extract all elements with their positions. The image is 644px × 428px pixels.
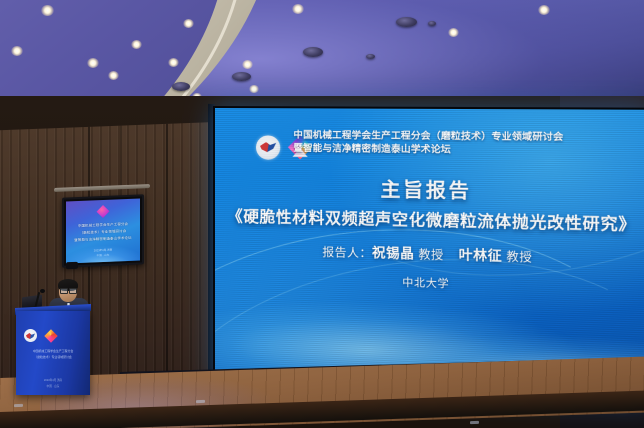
floor-socket — [14, 404, 23, 407]
ceiling-speaker — [232, 72, 251, 81]
confidence-monitor: 中国机械工程学会生产工程分会 （磨粒技术）专业领域研讨会 暨智能与洁净精密制造泰… — [62, 194, 144, 267]
presenter-2-name: 叶林征 — [459, 247, 503, 264]
microphone-icon — [40, 289, 45, 293]
downlight — [292, 4, 304, 14]
monitor-line-3: 暨智能与洁净精密制造泰山学术论坛 — [66, 234, 140, 242]
podium-cmes-logo — [24, 329, 37, 342]
lectern: 中国机械工程学会生产工程分会 （磨粒技术）专业领域研讨会 2023年4月 济南 … — [16, 311, 90, 395]
slide-header: 中国机械工程学会生产工程分会（磨粒技术）专业领域研讨会 暨智能与洁净精密制造泰山… — [293, 129, 644, 159]
downlight — [448, 28, 459, 37]
downlight — [168, 58, 179, 67]
downlight — [183, 19, 194, 28]
podium-text-line-2: （磨粒技术）专业领域研讨会 — [22, 355, 84, 359]
keynote-label: 主旨报告 — [215, 172, 644, 207]
presenter-1-rank: 教授 — [418, 249, 443, 262]
downlight — [538, 5, 550, 15]
presenter-1-name: 祝锡晶 — [372, 245, 414, 261]
ceiling-speaker — [303, 47, 323, 57]
podium-footer-1: 2023年4月 济南 — [22, 379, 84, 383]
keynote-subject-title: 《硬脆性材料双频超声空化微磨粒流体抛光改性研究》 — [215, 204, 644, 235]
led-screen-surface: 中国机械工程学会生产工程分会（磨粒技术）专业领域研讨会 暨智能与洁净精密制造泰山… — [215, 108, 644, 402]
floor-socket — [196, 400, 205, 403]
monitor-wave-graphic — [66, 244, 140, 263]
ceiling-speaker — [172, 82, 190, 91]
downlight — [87, 58, 99, 68]
presenter-2-rank: 教授 — [506, 251, 532, 264]
slide-header-line-2: 暨智能与洁净精密制造泰山学术论坛 — [293, 142, 644, 159]
downlight — [11, 46, 23, 56]
slide-content: 中国机械工程学会生产工程分会（磨粒技术）专业领域研讨会 暨智能与洁净精密制造泰山… — [215, 108, 644, 402]
podium-footer-2: 中国 · 山东 — [22, 385, 84, 389]
confidence-monitor-screen: 中国机械工程学会生产工程分会 （磨粒技术）专业领域研讨会 暨智能与洁净精密制造泰… — [66, 198, 140, 263]
forum-diamond-logo-small — [97, 205, 110, 219]
downlight — [41, 5, 54, 16]
glasses-icon — [60, 288, 76, 292]
downlight — [131, 40, 142, 49]
presenter-organization: 中北大学 — [215, 269, 644, 297]
downlight — [242, 60, 253, 69]
ceiling-speaker — [366, 54, 375, 59]
downlight — [249, 85, 259, 93]
presenter-prefix: 报告人： — [322, 247, 372, 260]
ceiling-speaker — [396, 17, 417, 27]
presenter-line: 报告人：祝锡晶 教授叶林征 教授 — [215, 238, 644, 268]
ceiling-speaker — [428, 21, 436, 26]
floor-socket — [470, 421, 479, 424]
monitor-camera — [66, 262, 78, 270]
conference-hall-photo: 中国机械工程学会生产工程分会 （磨粒技术）专业领域研讨会 暨智能与洁净精密制造泰… — [0, 0, 644, 428]
podium-diamond-logo — [44, 329, 58, 343]
podium-text-line-1: 中国机械工程学会生产工程分会 — [22, 349, 84, 353]
cmes-circular-logo — [256, 135, 280, 159]
downlight — [108, 71, 119, 80]
